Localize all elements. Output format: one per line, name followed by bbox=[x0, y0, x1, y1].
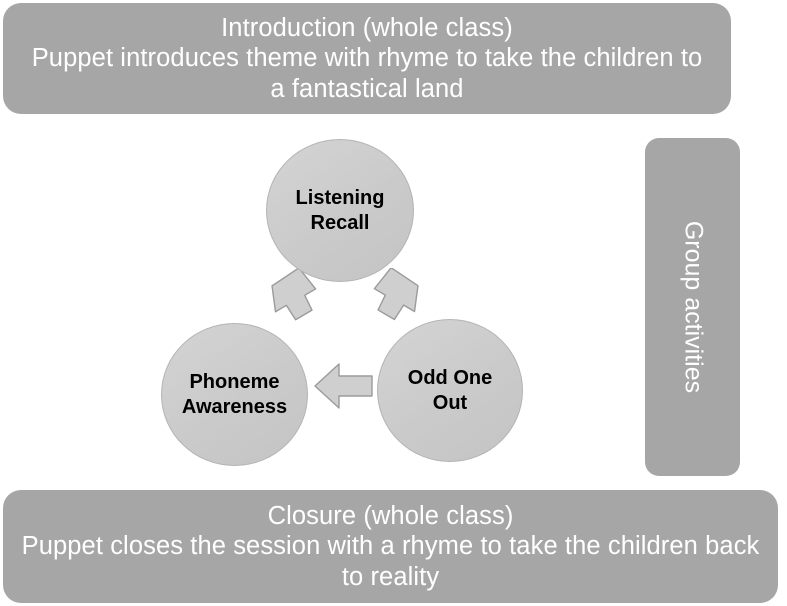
node-listening-recall-line-1: Listening bbox=[296, 187, 385, 209]
node-listening-recall-label: Listening Recall bbox=[286, 186, 395, 235]
group-activities-label: Group activities bbox=[680, 221, 705, 393]
node-odd-one-out[interactable]: Odd One Out bbox=[377, 319, 523, 462]
node-listening-recall[interactable]: Listening Recall bbox=[266, 139, 414, 282]
node-odd-one-out-line-1: Odd One bbox=[408, 367, 492, 389]
node-phoneme-awareness-label: Phoneme Awareness bbox=[172, 370, 297, 419]
group-activities-bar: Group activities bbox=[645, 138, 740, 476]
closure-banner: Closure (whole class) bbox=[3, 490, 778, 603]
node-odd-one-out-label: Odd One Out bbox=[398, 366, 502, 415]
arrow-odd-one-out-to-phoneme-awareness bbox=[312, 356, 378, 416]
node-phoneme-awareness[interactable]: Phoneme Awareness bbox=[161, 323, 308, 466]
node-listening-recall-line-2: Recall bbox=[311, 212, 370, 234]
node-phoneme-awareness-line-2: Awareness bbox=[182, 396, 287, 418]
node-phoneme-awareness-line-1: Phoneme bbox=[189, 371, 279, 393]
introduction-banner: Introduction (whole class) bbox=[3, 3, 731, 114]
node-odd-one-out-line-2: Out bbox=[433, 392, 467, 414]
diagram-canvas: Introduction (whole class) Introduction … bbox=[0, 0, 787, 606]
